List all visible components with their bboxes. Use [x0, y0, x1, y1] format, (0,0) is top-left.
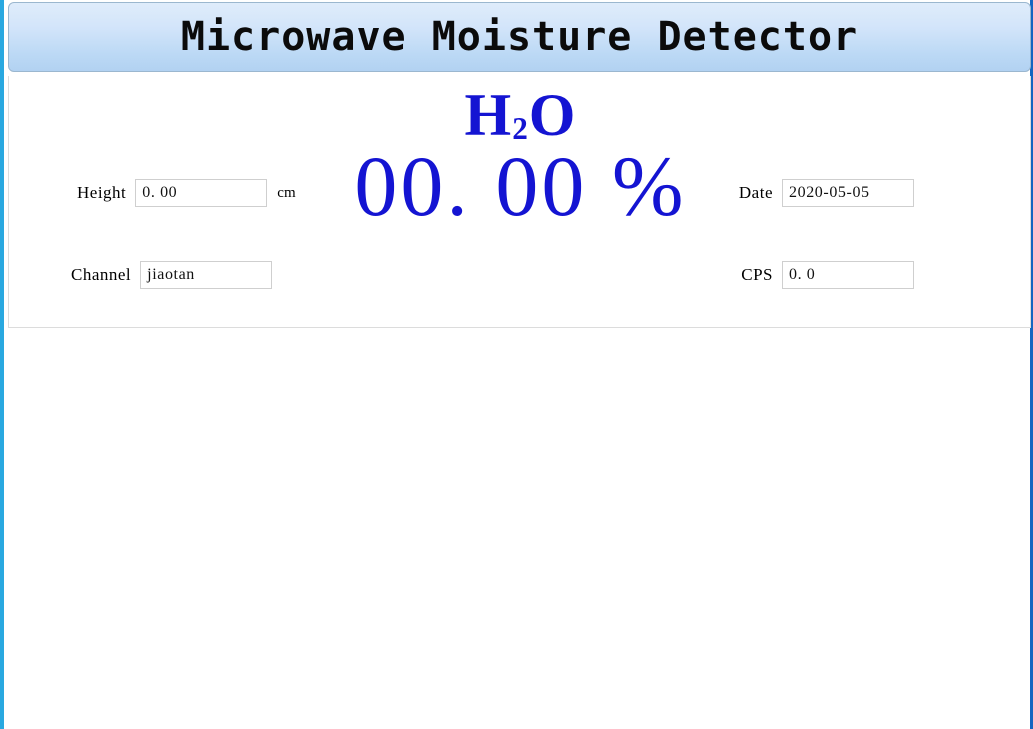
- h2o-formula-subscript: 2: [512, 111, 529, 146]
- date-field-row: Date 2020-05-05: [709, 179, 914, 207]
- date-input[interactable]: 2020-05-05: [782, 179, 914, 207]
- height-unit-label: cm: [277, 185, 295, 202]
- cps-input[interactable]: 0. 0: [782, 261, 914, 289]
- h2o-formula-h: H: [465, 82, 513, 148]
- h2o-formula-label: H2O: [9, 84, 1032, 147]
- h2o-formula-o: O: [529, 82, 577, 148]
- channel-label: Channel: [71, 265, 131, 285]
- application-window: Microwave Moisture Detector H2O 00. 00 %…: [0, 0, 1033, 729]
- title-bar: Microwave Moisture Detector: [8, 2, 1031, 72]
- cps-label: CPS: [709, 265, 773, 285]
- trend-chart: [4, 386, 1033, 631]
- channel-input[interactable]: jiaotan: [140, 261, 272, 289]
- readout-panel: H2O 00. 00 % Height 0. 00 cm Channel jia…: [8, 76, 1031, 328]
- page-title: Microwave Moisture Detector: [181, 14, 858, 60]
- height-label: Height: [77, 183, 126, 203]
- height-input[interactable]: 0. 00: [135, 179, 267, 207]
- moisture-reading-block: H2O 00. 00 %: [9, 84, 1032, 229]
- channel-field-row: Channel jiaotan: [71, 261, 272, 289]
- cps-field-row: CPS 0. 0: [709, 261, 914, 289]
- date-label: Date: [709, 183, 773, 203]
- height-field-row: Height 0. 00 cm: [77, 179, 296, 207]
- button-bar: [4, 643, 1033, 708]
